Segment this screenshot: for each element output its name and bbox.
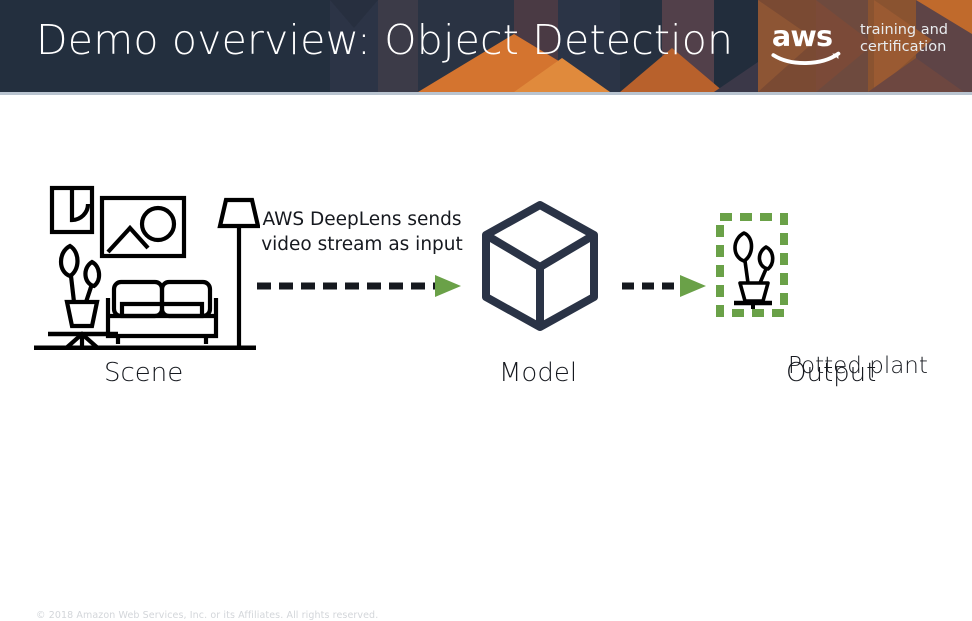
slide-body: AWS DeepLens sends video stream as input	[0, 95, 972, 548]
aws-wordmark-icon: aws	[770, 18, 848, 66]
slide-header: Demo overview: Object Detection aws trai…	[0, 0, 972, 92]
aws-logo: aws training and certification	[770, 18, 948, 66]
arrow1-caption: AWS DeepLens sends video stream as input	[252, 207, 472, 257]
cube-icon	[478, 199, 602, 333]
aws-tagline: training and certification	[860, 18, 948, 56]
caption-output: Output	[786, 358, 876, 388]
aws-tagline-line1: training and	[860, 22, 948, 39]
arrow1-caption-line2: video stream as input	[252, 232, 472, 257]
caption-scene: Scene	[104, 358, 183, 388]
caption-model: Model	[499, 358, 577, 388]
page-title: Demo overview: Object Detection	[36, 16, 733, 64]
living-room-scene-icon	[30, 180, 260, 350]
bounding-box	[720, 217, 784, 313]
potted-plant-detection-icon	[716, 213, 788, 317]
footer-copyright: © 2018 Amazon Web Services, Inc. or its …	[36, 610, 378, 621]
arrow-model-to-output	[620, 273, 708, 299]
svg-text:aws: aws	[772, 19, 832, 53]
aws-tagline-line2: certification	[860, 39, 948, 56]
arrow-scene-to-model	[255, 273, 465, 299]
arrow1-caption-line1: AWS DeepLens sends	[252, 207, 472, 232]
